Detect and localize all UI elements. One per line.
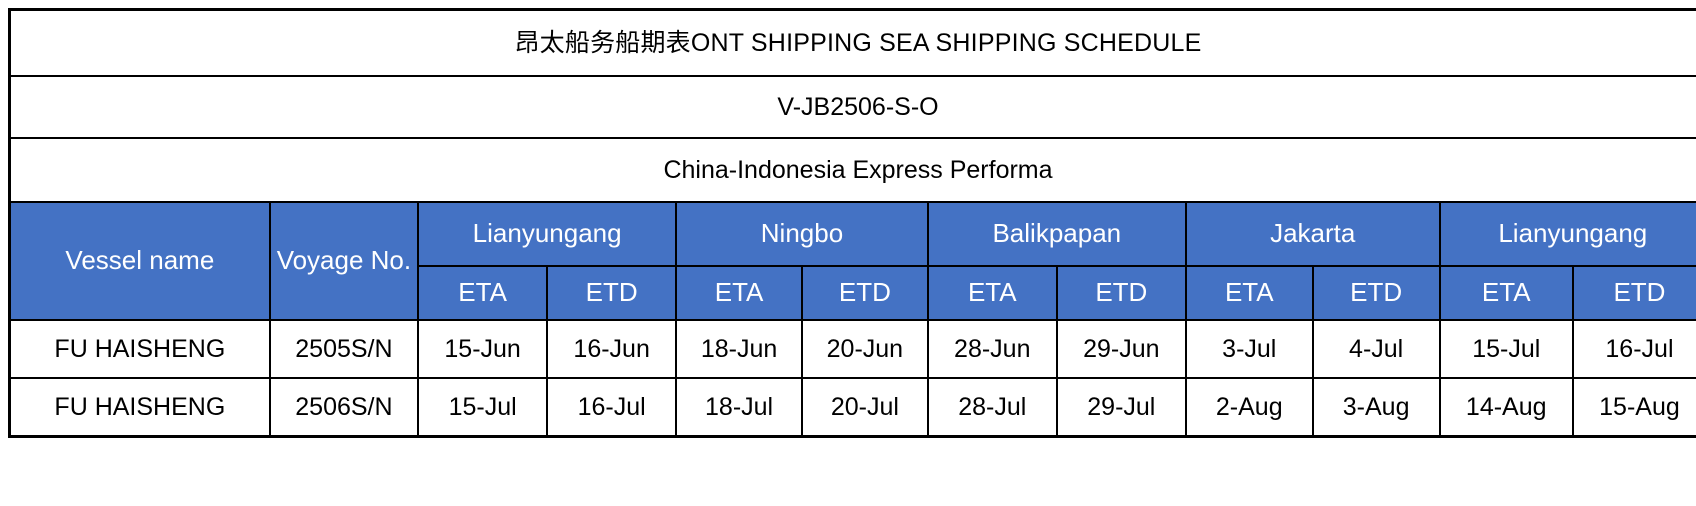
column-header-voyage-no: Voyage No.: [270, 202, 418, 320]
shipping-schedule-sheet: 昂太船务船期表ONT SHIPPING SEA SHIPPING SCHEDUL…: [0, 0, 1696, 506]
schedule-table: 昂太船务船期表ONT SHIPPING SEA SHIPPING SCHEDUL…: [8, 8, 1696, 438]
cell-jakarta-etd: 4-Jul: [1313, 320, 1440, 378]
cell-lianyungang-return-eta: 14-Aug: [1440, 378, 1573, 437]
port-header-jakarta: Jakarta: [1186, 202, 1440, 266]
cell-balikpapan-etd: 29-Jul: [1057, 378, 1186, 437]
cell-lianyungang-origin-eta: 15-Jun: [418, 320, 547, 378]
leg-header-jakarta-etd: ETD: [1313, 266, 1440, 320]
leg-header-balikpapan-eta: ETA: [928, 266, 1057, 320]
service-row: China-Indonesia Express Performa: [10, 138, 1696, 202]
title-row: 昂太船务船期表ONT SHIPPING SEA SHIPPING SCHEDUL…: [10, 10, 1696, 77]
port-header-row: Vessel name Voyage No. Lianyungang Ningb…: [10, 202, 1696, 266]
schedule-reference: V-JB2506-S-O: [10, 76, 1696, 138]
cell-jakarta-eta: 2-Aug: [1186, 378, 1313, 437]
cell-jakarta-etd: 3-Aug: [1313, 378, 1440, 437]
port-header-lianyungang-origin: Lianyungang: [418, 202, 676, 266]
cell-ningbo-etd: 20-Jul: [802, 378, 928, 437]
cell-lianyungang-origin-etd: 16-Jul: [547, 378, 676, 437]
table-row: FU HAISHENG 2505S/N 15-Jun 16-Jun 18-Jun…: [10, 320, 1696, 378]
leg-header-ningbo-etd: ETD: [802, 266, 928, 320]
cell-balikpapan-eta: 28-Jun: [928, 320, 1057, 378]
cell-voyage-no: 2505S/N: [270, 320, 418, 378]
cell-ningbo-etd: 20-Jun: [802, 320, 928, 378]
leg-header-lianyungang-origin-etd: ETD: [547, 266, 676, 320]
cell-lianyungang-origin-etd: 16-Jun: [547, 320, 676, 378]
leg-header-ningbo-eta: ETA: [676, 266, 802, 320]
cell-balikpapan-etd: 29-Jun: [1057, 320, 1186, 378]
cell-lianyungang-return-etd: 15-Aug: [1573, 378, 1696, 437]
cell-lianyungang-return-eta: 15-Jul: [1440, 320, 1573, 378]
cell-jakarta-eta: 3-Jul: [1186, 320, 1313, 378]
leg-header-balikpapan-etd: ETD: [1057, 266, 1186, 320]
cell-lianyungang-return-etd: 16-Jul: [1573, 320, 1696, 378]
cell-vessel-name: FU HAISHENG: [10, 378, 270, 437]
page-title: 昂太船务船期表ONT SHIPPING SEA SHIPPING SCHEDUL…: [10, 10, 1696, 77]
cell-ningbo-eta: 18-Jul: [676, 378, 802, 437]
cell-ningbo-eta: 18-Jun: [676, 320, 802, 378]
cell-vessel-name: FU HAISHENG: [10, 320, 270, 378]
port-header-lianyungang-return: Lianyungang: [1440, 202, 1696, 266]
table-row: FU HAISHENG 2506S/N 15-Jul 16-Jul 18-Jul…: [10, 378, 1696, 437]
leg-header-lianyungang-origin-eta: ETA: [418, 266, 547, 320]
column-header-vessel-name: Vessel name: [10, 202, 270, 320]
service-name: China-Indonesia Express Performa: [10, 138, 1696, 202]
leg-header-jakarta-eta: ETA: [1186, 266, 1313, 320]
reference-row: V-JB2506-S-O: [10, 76, 1696, 138]
cell-lianyungang-origin-eta: 15-Jul: [418, 378, 547, 437]
cell-balikpapan-eta: 28-Jul: [928, 378, 1057, 437]
port-header-balikpapan: Balikpapan: [928, 202, 1186, 266]
leg-header-lianyungang-return-eta: ETA: [1440, 266, 1573, 320]
cell-voyage-no: 2506S/N: [270, 378, 418, 437]
leg-header-lianyungang-return-etd: ETD: [1573, 266, 1696, 320]
port-header-ningbo: Ningbo: [676, 202, 928, 266]
